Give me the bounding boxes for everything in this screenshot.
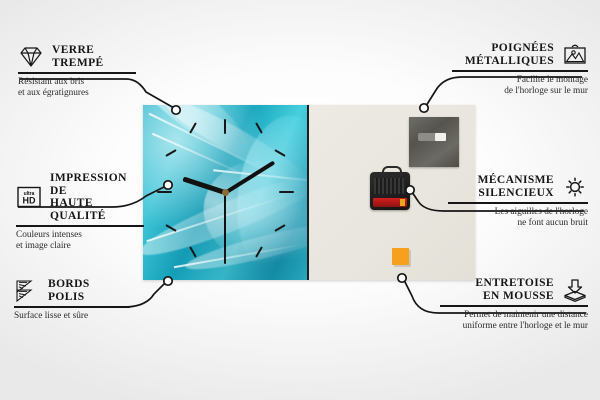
callout-title: VERRE TREMPÉ: [52, 44, 104, 69]
clock-center-pivot: [222, 189, 229, 196]
svg-text:HD: HD: [23, 196, 36, 206]
clock-hour-hand: [182, 177, 225, 195]
callout-title: BORDS POLIS: [48, 278, 90, 303]
picture-hanger-icon: [562, 43, 588, 67]
clock-second-hand: [224, 193, 226, 251]
clock-tick: [255, 122, 263, 133]
callout-subtitle-1: Surface lisse et sûre: [14, 311, 130, 322]
callout-header: POIGNÉES MÉTALLIQUES: [452, 42, 588, 67]
callout-subtitle-2: et aux égratignures: [18, 88, 136, 99]
clock-tick: [279, 191, 294, 193]
clock-tick: [165, 149, 176, 157]
gear-icon: [562, 175, 588, 199]
clock-tick: [189, 122, 197, 133]
callout-subtitle-1: Résistant aux bris: [18, 77, 136, 88]
diamond-icon: [18, 45, 44, 69]
metal-hanger-plate: [409, 117, 459, 167]
callout-subtitle-1: Permet de maintenir une distance: [440, 310, 588, 321]
clock-face-panel: [143, 105, 307, 280]
callout-rule: [18, 72, 136, 74]
callout-tempered-glass: VERRE TREMPÉ Résistant aux bris et aux é…: [18, 44, 136, 99]
callout-polished-edges: BORDS POLIS Surface lisse et sûre: [14, 278, 130, 322]
hanger-slot: [418, 133, 446, 141]
callout-title: POIGNÉES MÉTALLIQUES: [465, 42, 554, 67]
callout-header: ultra HD IMPRESSION DE HAUTE QUALITÉ: [16, 172, 144, 222]
callout-subtitle-2: ne font aucun bruit: [448, 218, 588, 229]
mechanism-hook: [382, 166, 402, 176]
callout-hd-print: ultra HD IMPRESSION DE HAUTE QUALITÉ Cou…: [16, 172, 144, 252]
callout-header: BORDS POLIS: [14, 278, 130, 303]
callout-title: MÉCANISME SILENCIEUX: [478, 174, 554, 199]
callout-foam-spacer: ENTRETOISE EN MOUSSE Permet de maintenir…: [440, 277, 588, 332]
clock-tick: [224, 249, 226, 264]
clock-minute-hand: [224, 161, 275, 195]
clock-mechanism: [370, 172, 410, 210]
clock-tick: [274, 224, 285, 232]
callout-rule: [16, 225, 144, 227]
foam-spacer: [392, 248, 409, 265]
callout-title: IMPRESSION DE HAUTE QUALITÉ: [50, 172, 144, 222]
callout-metal-handles: POIGNÉES MÉTALLIQUES Facilite le montage…: [452, 42, 588, 97]
callout-header: VERRE TREMPÉ: [18, 44, 136, 69]
spacer-press-icon: [562, 278, 588, 302]
clock-tick: [157, 191, 172, 193]
clock-tick: [274, 149, 285, 157]
callout-subtitle-2: de l'horloge sur le mur: [452, 86, 588, 97]
clock-dial: [143, 105, 307, 280]
clock-tick: [224, 119, 226, 134]
callout-title: ENTRETOISE EN MOUSSE: [475, 277, 554, 302]
callout-subtitle-1: Facilite le montage: [452, 75, 588, 86]
callout-silent-mechanism: MÉCANISME SILENCIEUX Les aiguilles de l'…: [448, 174, 588, 229]
callout-header: ENTRETOISE EN MOUSSE: [440, 277, 588, 302]
callout-subtitle-2: et image claire: [16, 241, 144, 252]
polished-edge-icon: [14, 279, 40, 303]
infographic-stage: VERRE TREMPÉ Résistant aux bris et aux é…: [0, 0, 600, 400]
callout-subtitle-1: Les aiguilles de l'horloge: [448, 207, 588, 218]
clock-tick: [189, 246, 197, 257]
ultra-hd-icon: ultra HD: [16, 185, 42, 209]
callout-subtitle-2: uniforme entre l'horloge et le mur: [440, 321, 588, 332]
callout-rule: [440, 305, 588, 307]
battery: [373, 198, 407, 207]
callout-rule: [14, 306, 130, 308]
callout-subtitle-1: Couleurs intenses: [16, 230, 144, 241]
callout-rule: [448, 202, 588, 204]
mechanism-body: [374, 178, 404, 194]
callout-rule: [452, 70, 588, 72]
clock-tick: [255, 246, 263, 257]
clock-tick: [165, 224, 176, 232]
callout-header: MÉCANISME SILENCIEUX: [448, 174, 588, 199]
